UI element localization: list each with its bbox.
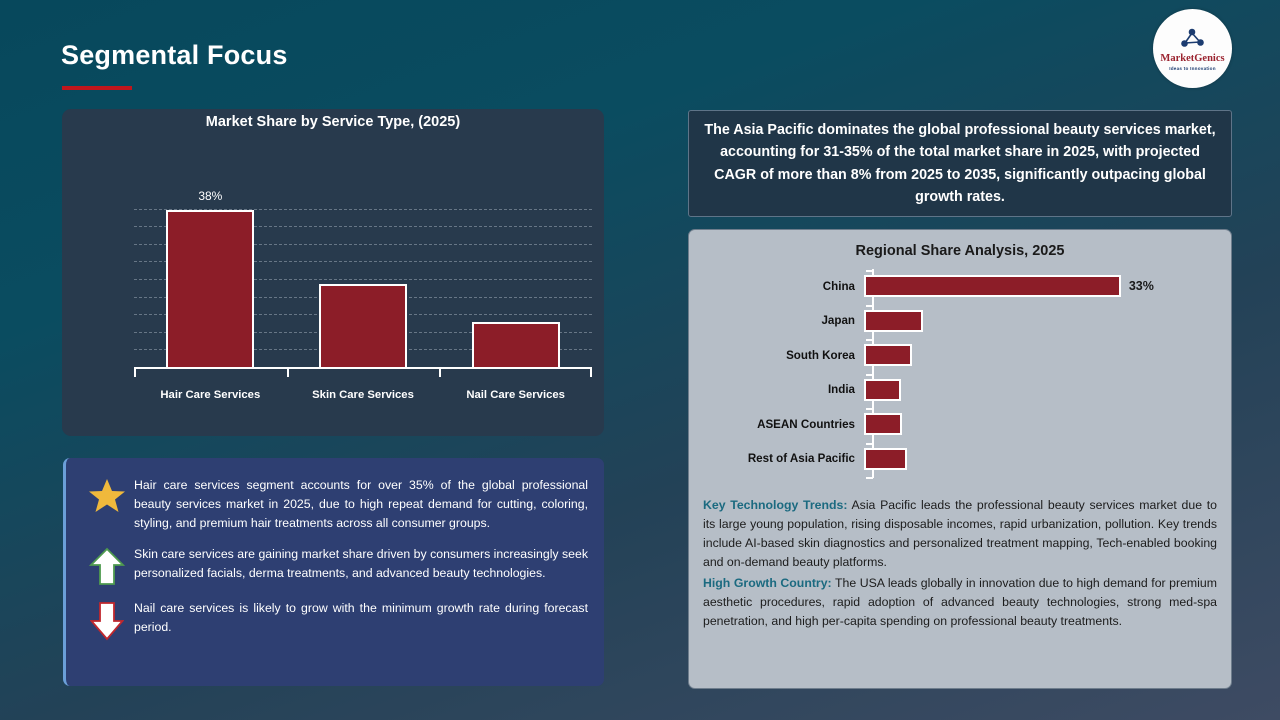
- axis-tick: [866, 374, 873, 376]
- regional-bar-row: Japan: [701, 304, 1221, 338]
- x-axis-line: [134, 367, 592, 369]
- insight-row: Skin care services are gaining market sh…: [84, 545, 592, 587]
- insight-row: Nail care services is likely to grow wit…: [84, 599, 592, 641]
- regional-bar-china: [864, 275, 1121, 297]
- regional-chart-title: Regional Share Analysis, 2025: [701, 243, 1219, 259]
- regional-label-south-korea: South Korea: [701, 349, 864, 362]
- company-logo: MarketGenics Ideas to Innovation: [1153, 9, 1232, 88]
- regional-label-asean-countries: ASEAN Countries: [701, 418, 864, 431]
- insight-row: Hair care services segment accounts for …: [84, 476, 592, 533]
- bar-chart-plot-area: Hair Care Services38%Skin Care ServicesN…: [62, 109, 604, 436]
- category-label: Skin Care Services: [278, 389, 448, 401]
- arrow-up-icon: [84, 545, 130, 587]
- regional-label-china: China: [701, 280, 864, 293]
- regional-bar-row: ASEAN Countries: [701, 407, 1221, 441]
- regional-bar-row: India: [701, 373, 1221, 407]
- regional-notes: Key Technology Trends: Asia Pacific lead…: [701, 496, 1219, 631]
- regional-note: Key Technology Trends: Asia Pacific lead…: [703, 496, 1217, 572]
- regional-label-rest-of-asia-pacific: Rest of Asia Pacific: [701, 452, 864, 465]
- axis-tick: [866, 408, 873, 410]
- axis-tick: [590, 369, 592, 377]
- category-label: Nail Care Services: [431, 389, 601, 401]
- market-share-chart-panel: Market Share by Service Type, (2025) Hai…: [62, 109, 604, 436]
- insight-text: Nail care services is likely to grow wit…: [130, 599, 592, 637]
- regional-bar-row: South Korea: [701, 338, 1221, 372]
- regional-bar-india: [864, 379, 901, 401]
- axis-tick: [866, 339, 873, 341]
- arrow-down-icon: [84, 599, 130, 641]
- page-title: Segmental Focus: [61, 40, 288, 71]
- axis-tick: [287, 369, 289, 377]
- regional-note: High Growth Country: The USA leads globa…: [703, 574, 1217, 631]
- regional-bar-row: China33%: [701, 269, 1221, 303]
- axis-tick: [866, 270, 873, 272]
- axis-tick: [866, 305, 873, 307]
- regional-value-label: 33%: [1129, 279, 1154, 293]
- asia-pacific-callout: The Asia Pacific dominates the global pr…: [688, 110, 1232, 217]
- insights-panel: Hair care services segment accounts for …: [63, 458, 604, 686]
- regional-bar-asean-countries: [864, 413, 902, 435]
- insight-text: Skin care services are gaining market sh…: [130, 545, 592, 583]
- callout-text: The Asia Pacific dominates the global pr…: [701, 119, 1219, 208]
- note-heading: Key Technology Trends:: [703, 498, 847, 512]
- regional-chart-plot-area: China33%JapanSouth KoreaIndiaASEAN Count…: [701, 267, 1221, 482]
- bar-hair-care-services: [166, 210, 254, 367]
- regional-bar-south-korea: [864, 344, 912, 366]
- insight-text: Hair care services segment accounts for …: [130, 476, 592, 533]
- axis-tick: [134, 369, 136, 377]
- network-nodes-icon: [1178, 27, 1208, 53]
- regional-bar-row: Rest of Asia Pacific: [701, 442, 1221, 476]
- logo-brand-name: MarketGenics: [1160, 54, 1224, 65]
- star-icon: [84, 476, 130, 514]
- category-label: Hair Care Services: [125, 389, 295, 401]
- title-underline-rule: [62, 86, 132, 90]
- bar-skin-care-services: [319, 284, 407, 367]
- regional-bar-rest-of-asia-pacific: [864, 448, 907, 470]
- axis-tick: [439, 369, 441, 377]
- bar-value-label: 38%: [150, 189, 270, 203]
- note-heading: High Growth Country:: [703, 576, 832, 590]
- regional-label-india: India: [701, 383, 864, 396]
- axis-tick: [866, 477, 873, 479]
- axis-tick: [866, 443, 873, 445]
- regional-bar-japan: [864, 310, 923, 332]
- regional-share-panel: Regional Share Analysis, 2025 China33%Ja…: [688, 229, 1232, 689]
- bar-nail-care-services: [472, 322, 560, 367]
- logo-tagline: Ideas to Innovation: [1169, 66, 1216, 71]
- regional-label-japan: Japan: [701, 314, 864, 327]
